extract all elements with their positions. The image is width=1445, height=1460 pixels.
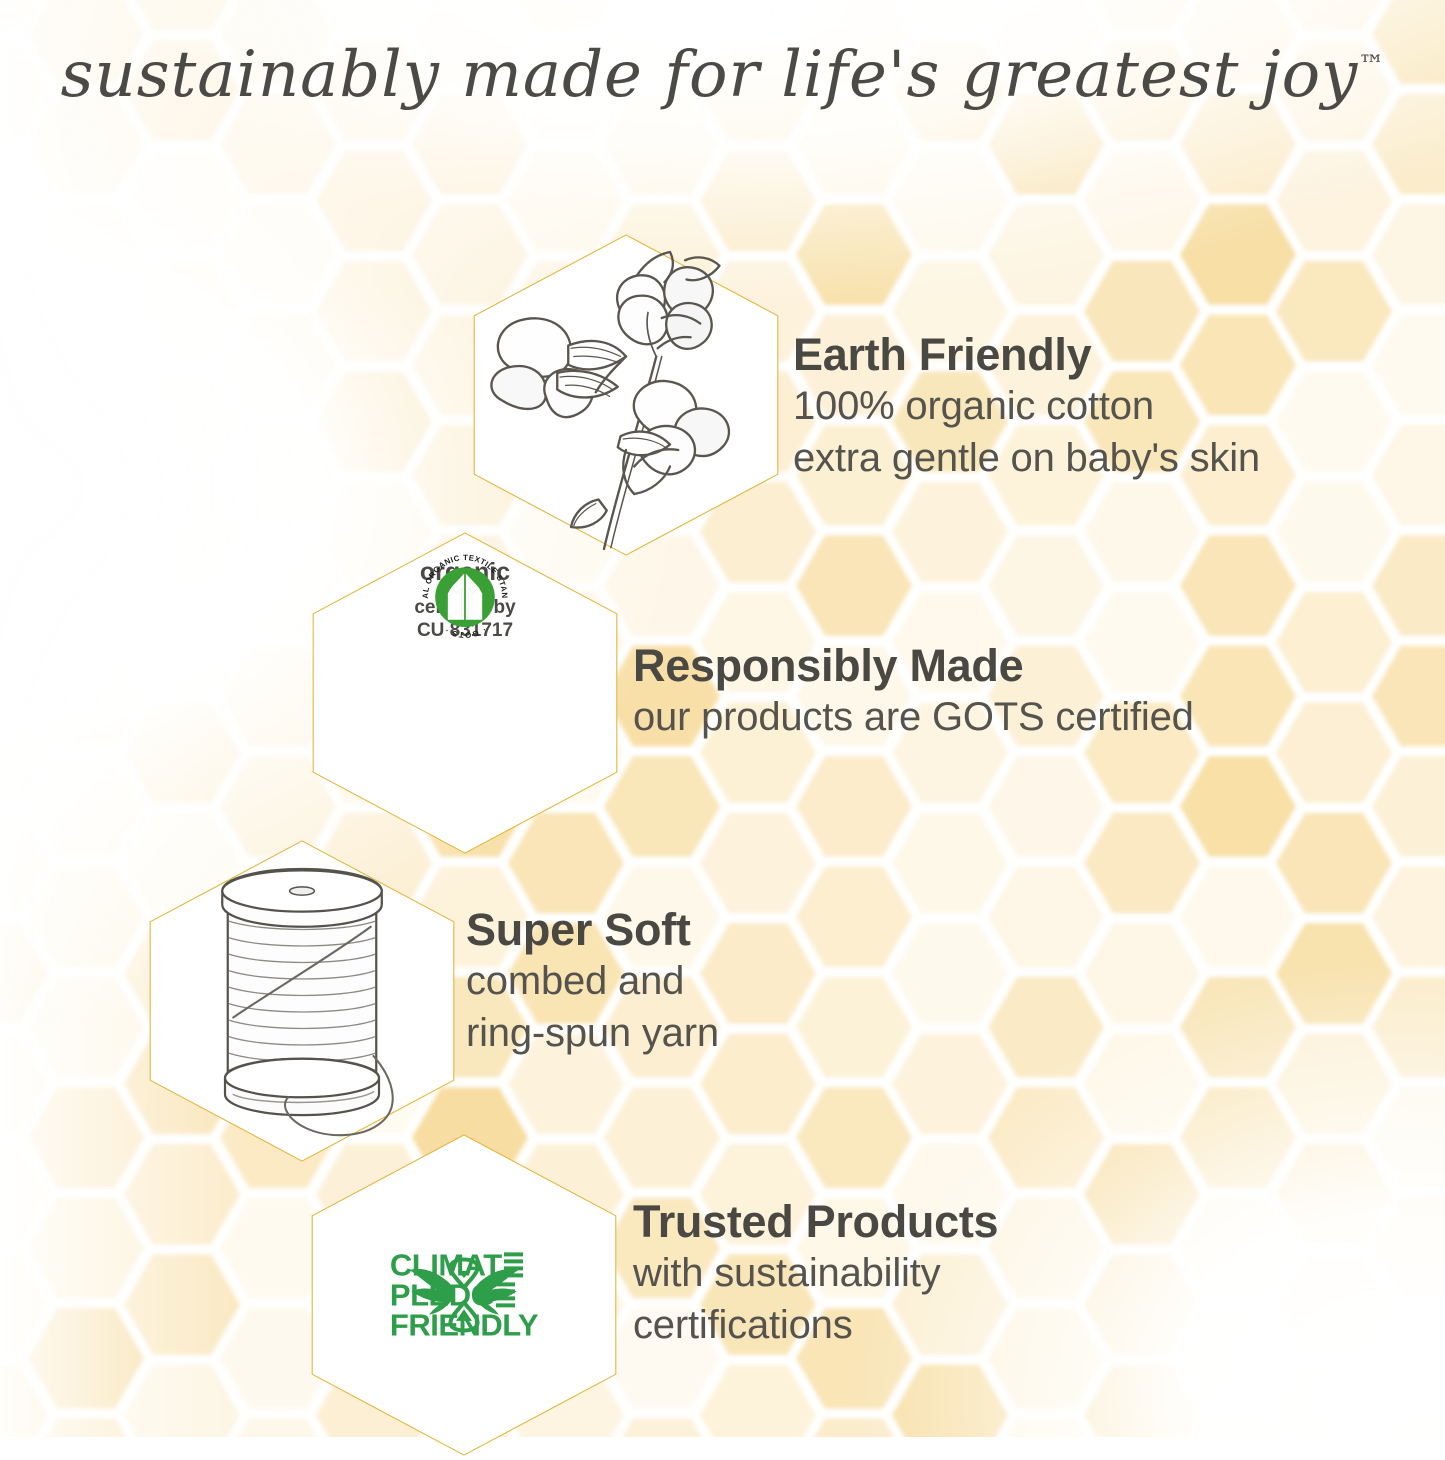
page-tagline: sustainably made for life's greatest joy… [0,38,1445,112]
feature-hex-trusted-products: CLIMAT PLEDG FRIENDLY [299,1130,629,1460]
feature-title: Earth Friendly [793,331,1260,380]
gots-seal-icon: GLOBAL ORGANIC TEXTILE STANDARD · GOTS · [300,552,630,642]
feature-hex-super-soft [137,836,467,1166]
feature-hex-earth-friendly [461,230,791,560]
feature-text-responsibly-made: Responsibly Made our products are GOTS c… [633,642,1194,743]
feature-hex-responsibly-made: GLOBAL ORGANIC TEXTILE STANDARD · GOTS ·… [300,528,630,858]
feature-text-earth-friendly: Earth Friendly 100% organic cotton extra… [793,331,1260,484]
climate-pledge-friendly-logo: CLIMAT PLEDG FRIENDLY [299,1250,629,1339]
gots-badge: GLOBAL ORGANIC TEXTILE STANDARD · GOTS ·… [300,552,630,642]
thread-spool-illustration [137,836,467,1166]
feature-line: combed and [466,955,719,1007]
svg-text:· GOTS ·: · GOTS · [443,625,488,639]
feature-line: our products are GOTS certified [633,691,1194,743]
feature-text-trusted-products: Trusted Products with sustainability cer… [633,1198,998,1351]
feature-title: Trusted Products [633,1198,998,1247]
trademark-symbol: ™ [1358,51,1384,81]
tagline-text: sustainably made for life's greatest joy [61,38,1359,112]
feature-line: extra gentle on baby's skin [793,432,1260,484]
feature-line: 100% organic cotton [793,380,1260,432]
gots-ring-text-bottom: · GOTS · [443,625,488,639]
feature-text-super-soft: Super Soft combed and ring-spun yarn [466,906,719,1059]
feature-line: with sustainability [633,1247,998,1299]
winged-hourglass-icon [299,1250,629,1339]
feature-line: ring-spun yarn [466,1007,719,1059]
cotton-plant-illustration [461,230,791,560]
feature-line: certifications [633,1299,998,1351]
feature-title: Super Soft [466,906,719,955]
feature-title: Responsibly Made [633,642,1194,691]
